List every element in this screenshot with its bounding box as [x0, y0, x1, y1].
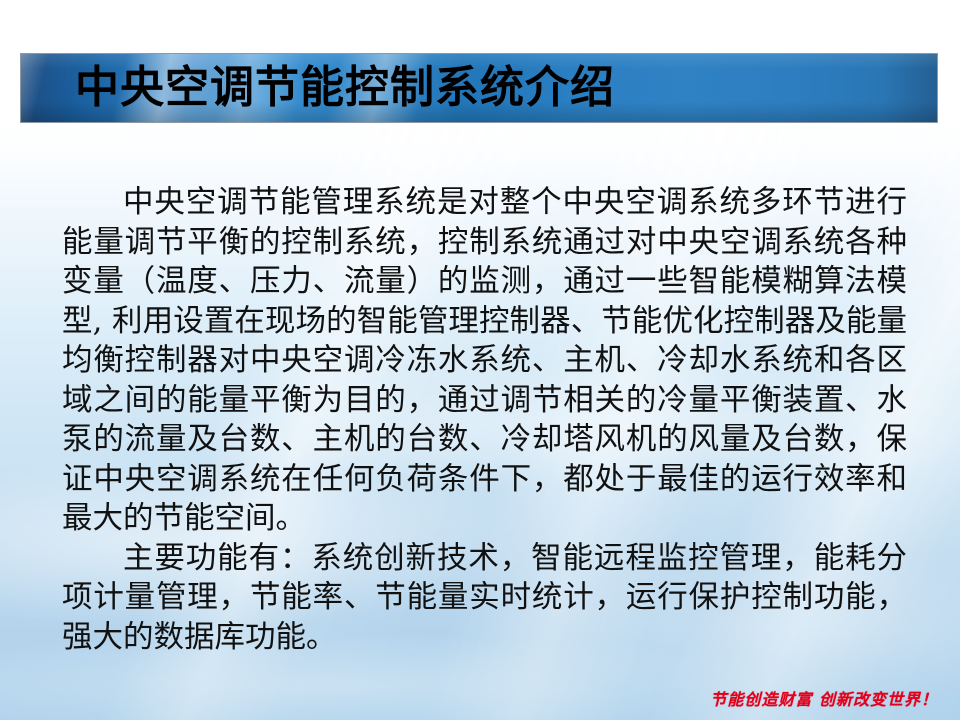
title-banner: 中央空调节能控制系统介绍 [20, 53, 938, 123]
slide-body: 中央空调节能管理系统是对整个中央空调系统多环节进行能量调节平衡的控制系统，控制系… [62, 183, 907, 657]
body-paragraph-1: 中央空调节能管理系统是对整个中央空调系统多环节进行能量调节平衡的控制系统，控制系… [62, 183, 907, 539]
slide-title: 中央空调节能控制系统介绍 [75, 66, 615, 110]
footer-slogan: 节能创造财富 创新改变世界！ [710, 686, 938, 710]
slide-canvas: 中央空调节能控制系统介绍 中央空调节能管理系统是对整个中央空调系统多环节进行能量… [0, 0, 960, 720]
body-paragraph-2: 主要功能有：系统创新技术，智能远程监控管理，能耗分项计量管理，节能率、节能量实时… [62, 539, 907, 658]
